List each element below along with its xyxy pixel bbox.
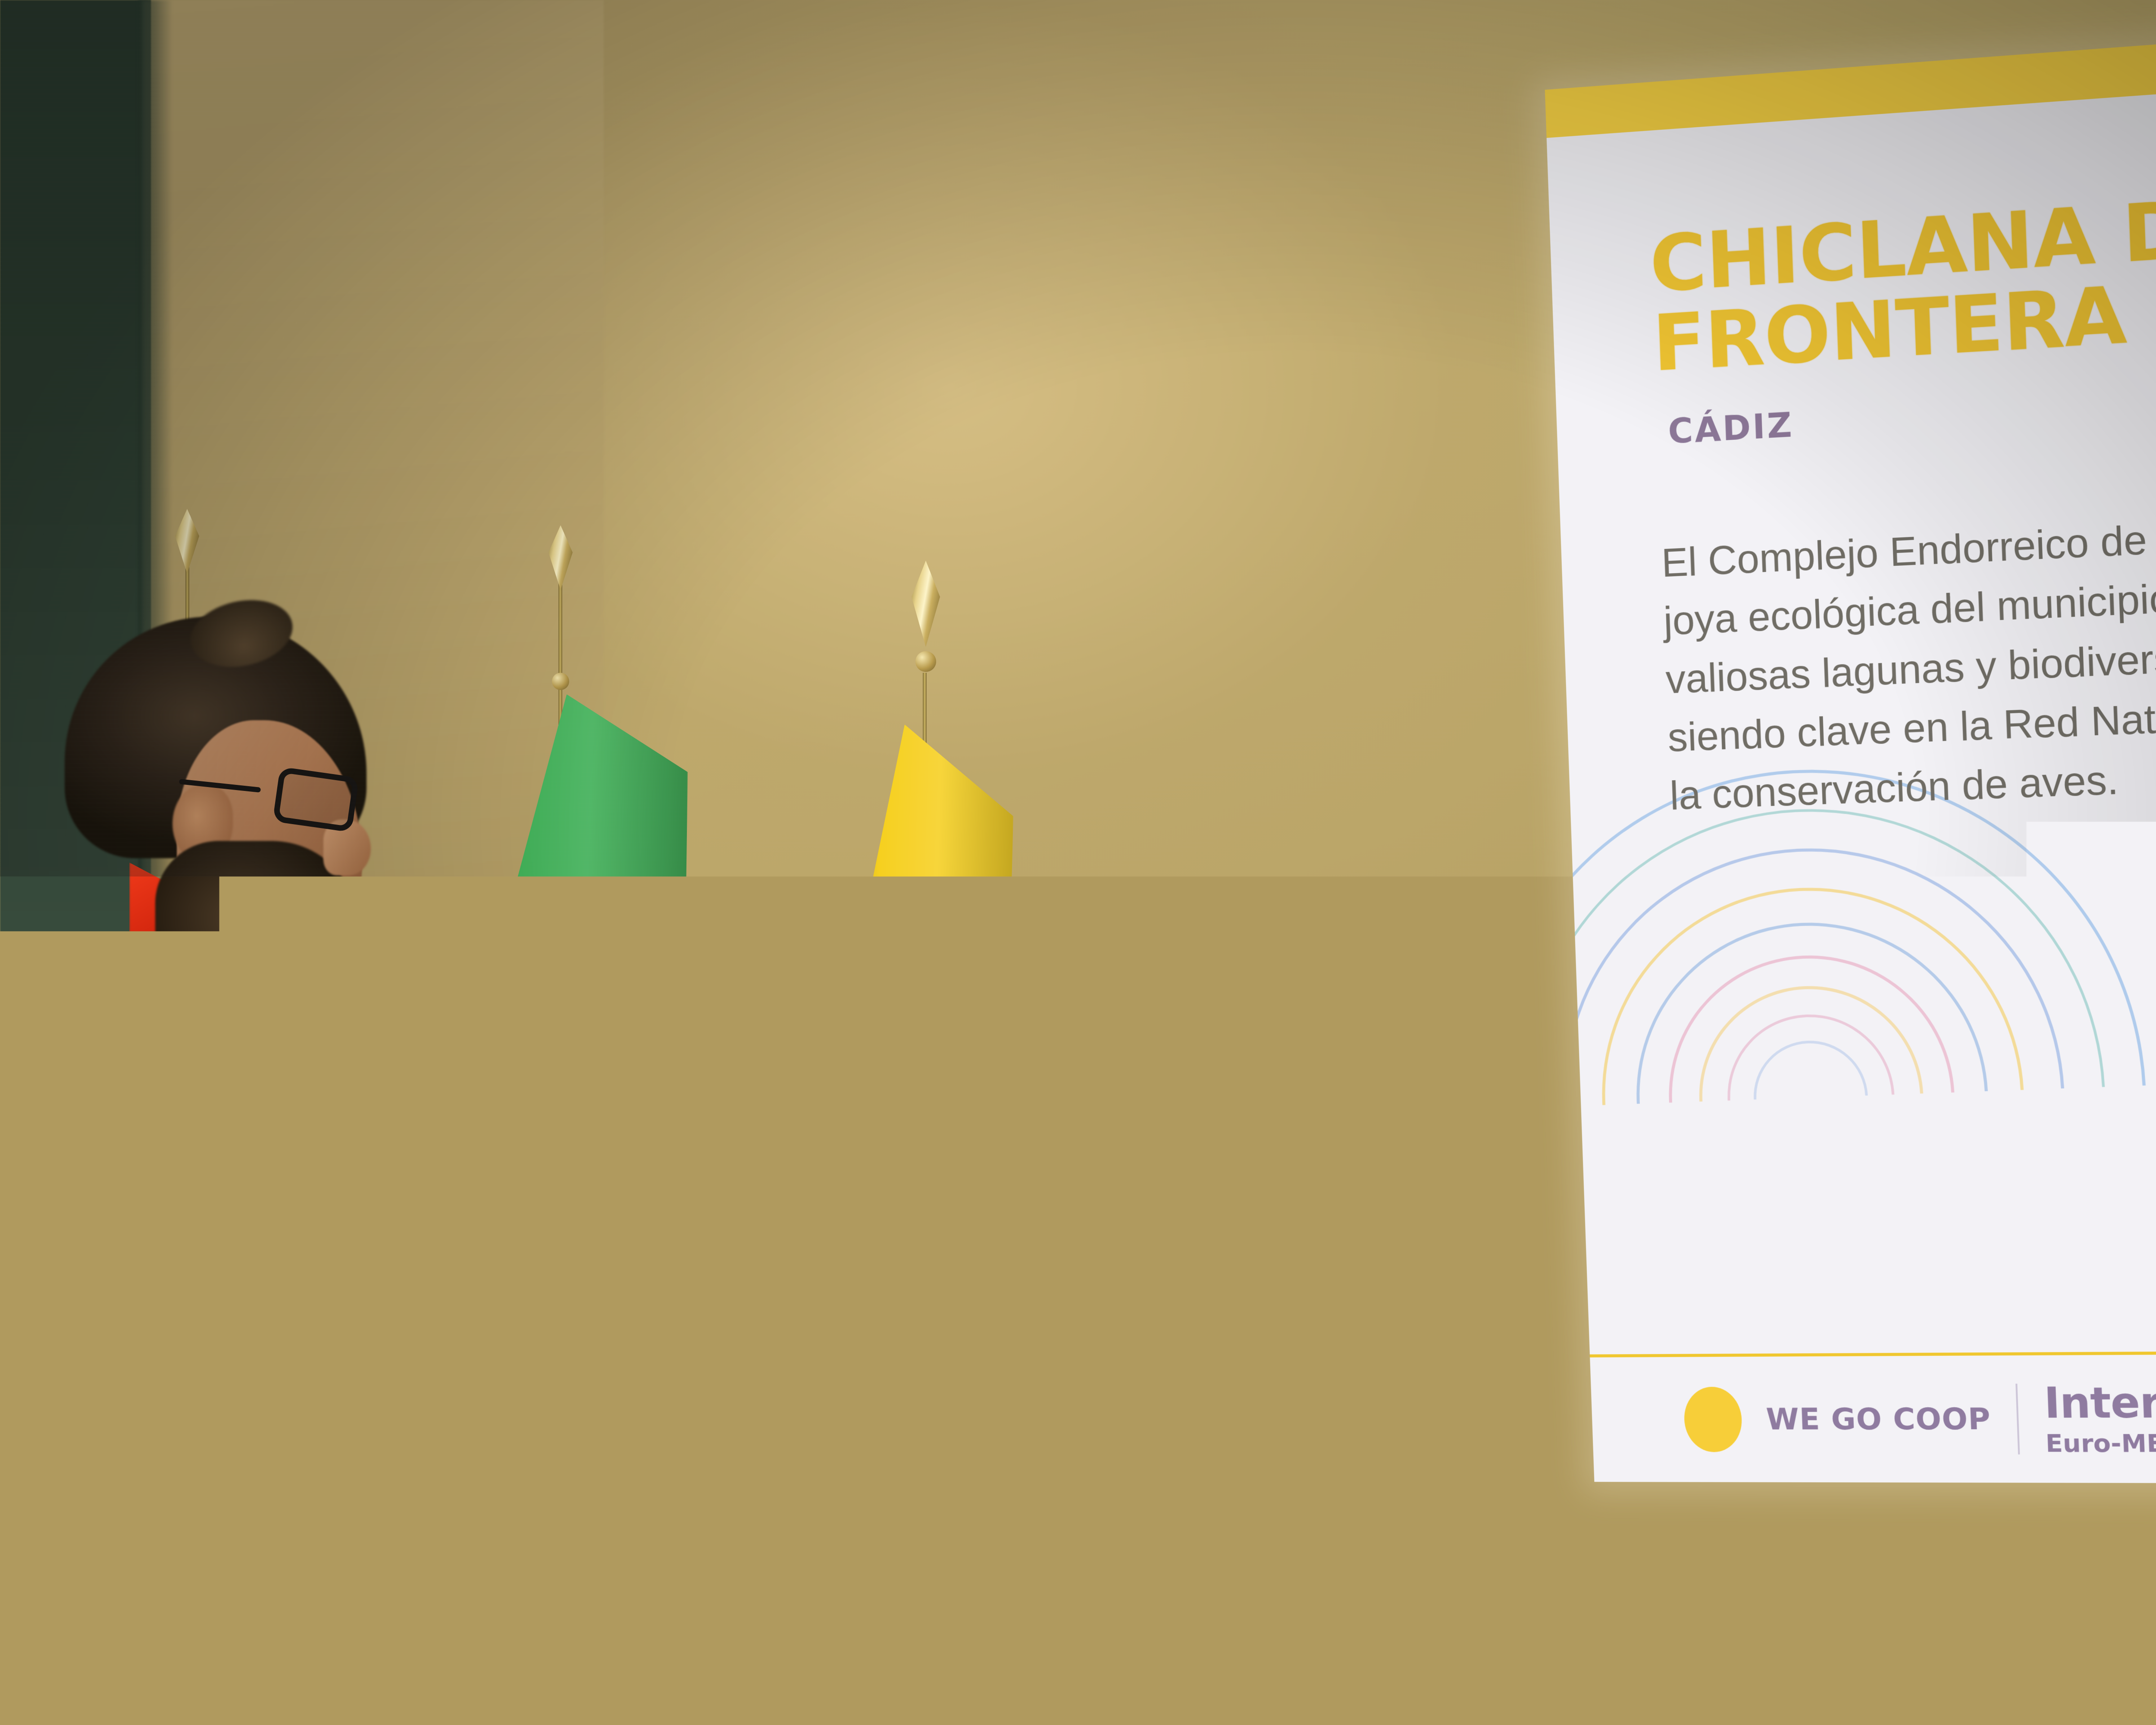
spain-coat-of-arms xyxy=(880,1298,944,1406)
crown-pearl xyxy=(893,1304,906,1317)
wegocoop-label: WE GO COOP xyxy=(1765,1402,1991,1436)
yellow-circle-icon xyxy=(1683,1387,1742,1452)
speaker-beard-highlight xyxy=(233,919,310,983)
eyeglasses-icon xyxy=(250,772,379,841)
wegocoop-logo: WE GO COOP xyxy=(1683,1386,1992,1452)
conference-presentation-photo: CHICLANA DE LA FRONTERA CÁDIZ El Complej… xyxy=(0,0,2156,1725)
slide-subtitle: CÁDIZ xyxy=(1667,405,1794,452)
crown-pearl xyxy=(924,1300,937,1313)
interreg-logo: Interreg Euro-MED xyxy=(2043,1381,2156,1456)
projected-slide: CHICLANA DE LA FRONTERA CÁDIZ El Complej… xyxy=(1545,9,2156,1484)
floor-shadow xyxy=(0,1596,1466,1725)
slide-footer: WE GO COOP Interreg Euro-MED Co-funded b… xyxy=(1590,1352,2156,1484)
slide-title: CHICLANA DE LA FRONTERA xyxy=(1648,160,2156,384)
laptop-lid[interactable]: SALON GRADOS 2 xyxy=(926,1198,1230,1506)
interreg-programme: Euro-MED xyxy=(2045,1431,2156,1456)
laptop-brand-logo-icon xyxy=(1053,1354,1092,1380)
logo-divider xyxy=(2015,1384,2020,1455)
finger xyxy=(577,1265,674,1305)
interreg-wordmark: Interreg xyxy=(2043,1381,2156,1424)
slide-body-text: El Complejo Endorreico de Chiclana, joya… xyxy=(1661,482,2156,825)
laptop-asset-label: SALON GRADOS 2 xyxy=(1076,1258,1186,1285)
crown-pearl xyxy=(908,1297,921,1310)
flagpole-ball-icon xyxy=(915,651,936,672)
crest-red-charge xyxy=(904,1323,936,1388)
speaker-head xyxy=(47,617,392,1052)
eyeglass-lens xyxy=(273,767,359,833)
crown-pearl xyxy=(877,1351,890,1364)
